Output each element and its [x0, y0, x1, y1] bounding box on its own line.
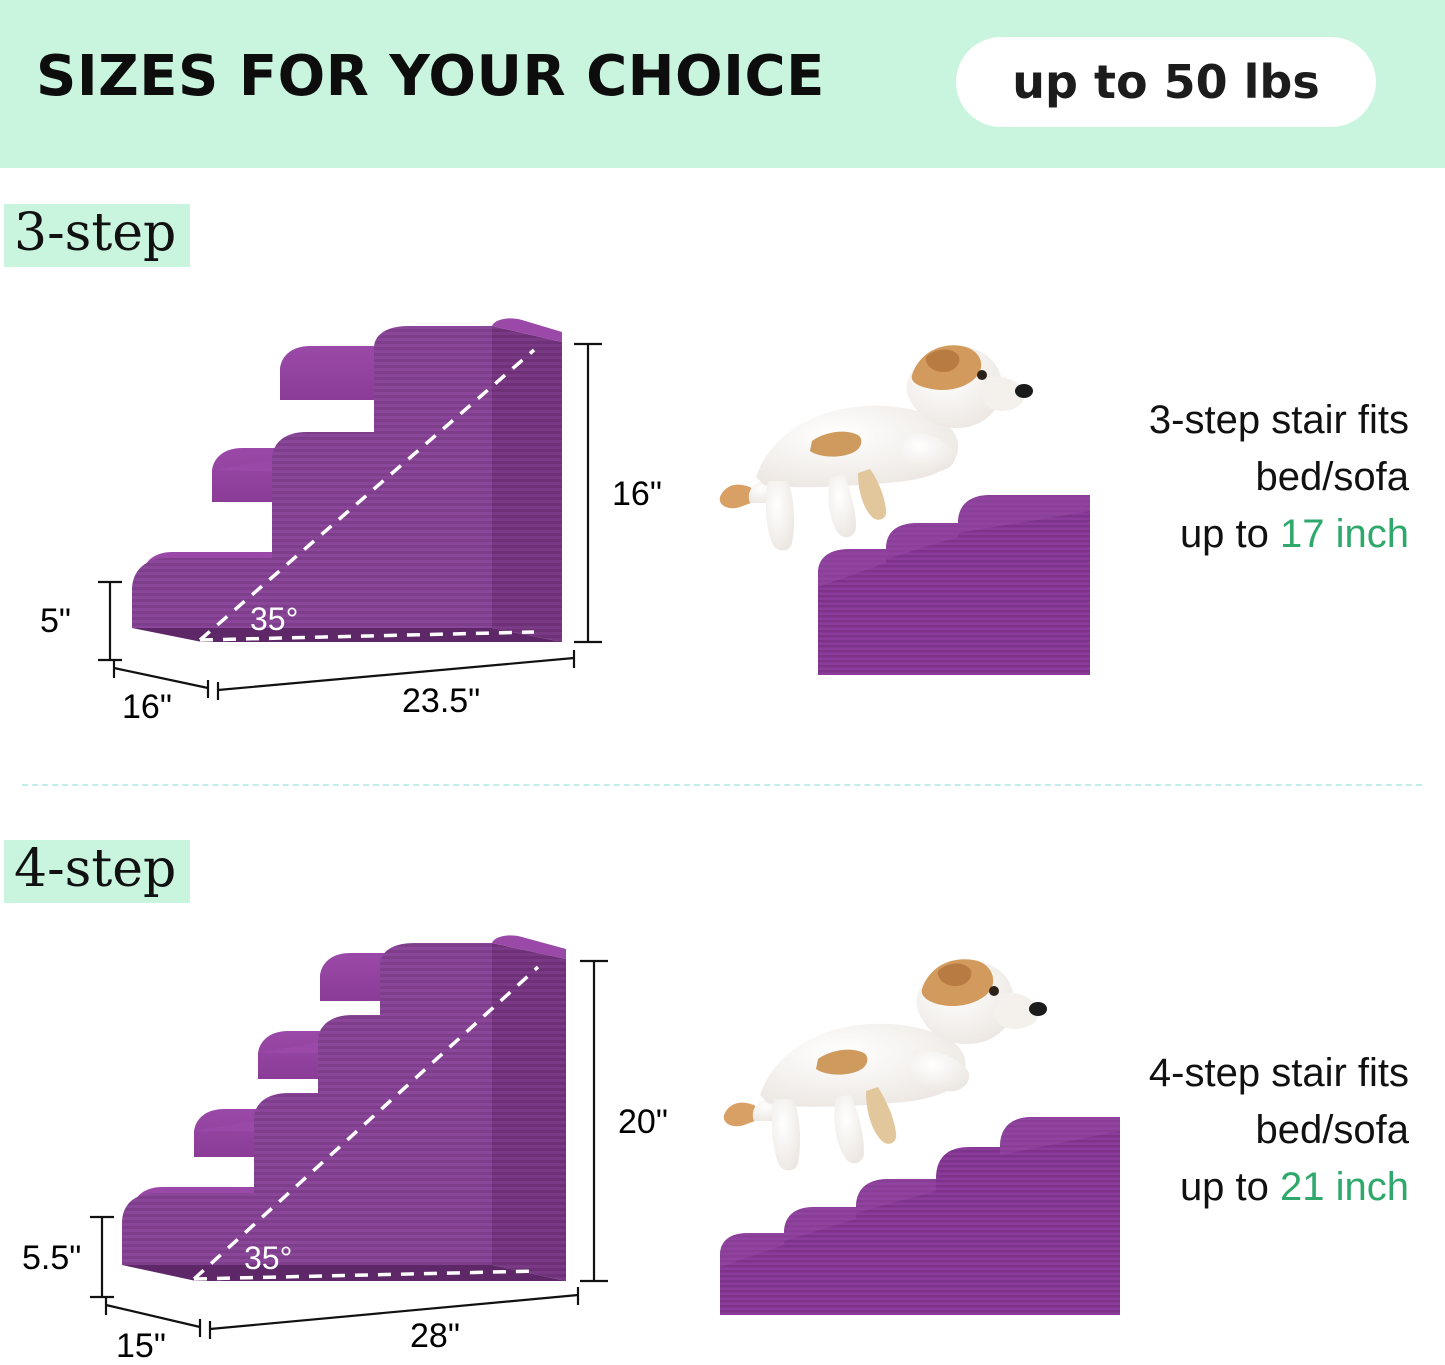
- header-banner: SIZES FOR YOUR CHOICE up to 50 lbs: [0, 0, 1445, 168]
- desc-highlight-4-step: 21 inch: [1280, 1165, 1409, 1209]
- front-height-label-4-step: 5.5": [22, 1239, 81, 1277]
- desc-line-2-4-step: bed/sofa: [989, 1102, 1409, 1159]
- desc-line-3-3-step: up to 17 inch: [989, 506, 1409, 563]
- width-label-4-step: 28": [410, 1317, 460, 1355]
- step-right-end-face: [492, 326, 562, 642]
- description-4-step: 4-step stair fits bed/sofa up to 21 inch: [989, 1045, 1409, 1215]
- diagram-4-step: 35° 20" 5.5" 15": [22, 935, 682, 1365]
- dimension-front-height-4-step: [90, 1217, 114, 1297]
- section-3-step: 35° 16" 5" 16": [0, 300, 1445, 760]
- desc-line-1-3-step: 3-step stair fits: [989, 392, 1409, 449]
- depth-label-4-step: 15": [116, 1327, 166, 1365]
- desc-line-1-4-step: 4-step stair fits: [989, 1045, 1409, 1102]
- front-height-label-3-step: 5": [40, 602, 71, 640]
- step-right-end-face-4: [492, 943, 566, 1281]
- desc-highlight-3-step: 17 inch: [1280, 512, 1409, 556]
- section-tag-3-step: 3-step: [4, 204, 190, 267]
- description-3-step: 3-step stair fits bed/sofa up to 17 inch: [989, 392, 1409, 562]
- dimension-width-4-step: [210, 1287, 578, 1339]
- angle-label-3-step: 35°: [250, 601, 298, 637]
- desc-prefix-4-step: up to: [1180, 1165, 1280, 1209]
- angle-label-4-step: 35°: [244, 1240, 292, 1276]
- section-divider: [22, 784, 1422, 786]
- weight-capacity-label: up to 50 lbs: [1012, 55, 1319, 109]
- depth-label-3-step: 16": [122, 688, 172, 726]
- height-label-4-step: 20": [618, 1103, 668, 1141]
- page-title: SIZES FOR YOUR CHOICE: [36, 44, 825, 109]
- step-front-body-4: [122, 943, 492, 1265]
- weight-capacity-badge: up to 50 lbs: [956, 37, 1376, 127]
- dimension-width-3-step: [218, 650, 574, 700]
- diagram-3-step: 35° 16" 5" 16": [22, 320, 662, 740]
- desc-line-3-4-step: up to 21 inch: [989, 1159, 1409, 1216]
- section-tag-4-step: 4-step: [4, 840, 190, 903]
- desc-prefix-3-step: up to: [1180, 512, 1280, 556]
- height-label-3-step: 16": [612, 475, 662, 513]
- dimension-height-4-step: [580, 961, 608, 1281]
- dimension-front-height-3-step: [98, 582, 122, 660]
- dimension-height-3-step: [574, 344, 602, 642]
- section-4-step: 35° 20" 5.5" 15": [0, 925, 1445, 1365]
- desc-line-2-3-step: bed/sofa: [989, 449, 1409, 506]
- width-label-3-step: 23.5": [402, 682, 480, 720]
